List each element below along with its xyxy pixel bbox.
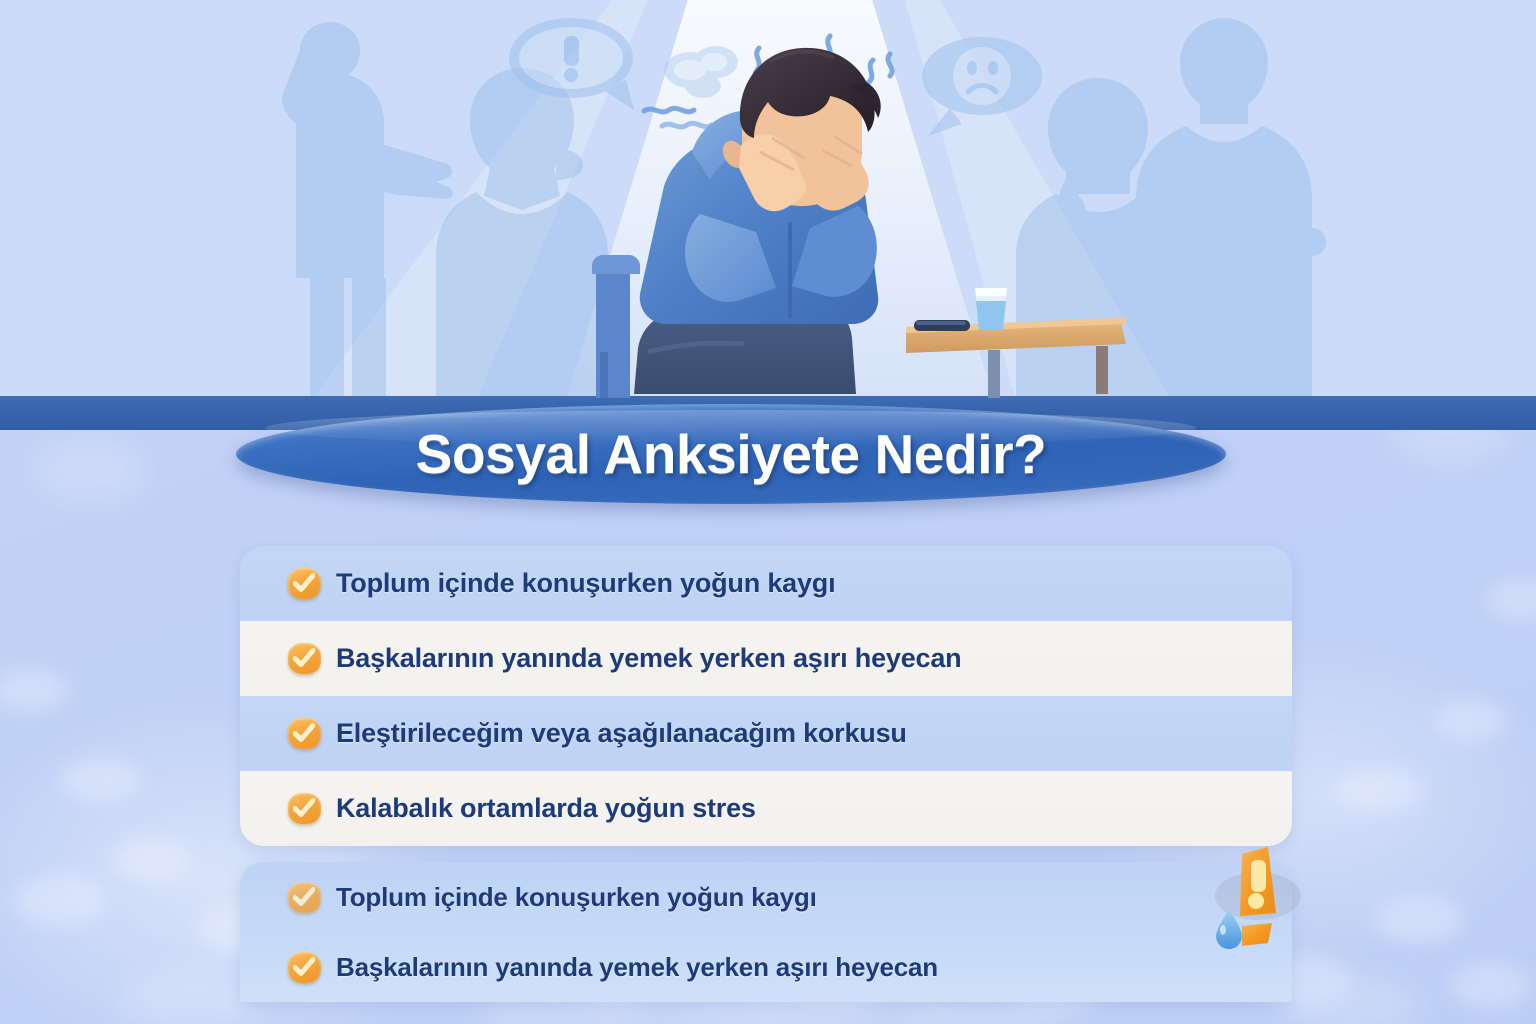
list-item: Kalabalık ortamlarda yoğun stres	[240, 771, 1292, 846]
check-icon	[288, 882, 321, 913]
page-title: Sosyal Anksiyete Nedir?	[236, 404, 1226, 504]
check-icon	[288, 643, 321, 674]
check-icon	[288, 568, 321, 599]
list-item-label: Eleştirileceğim veya aşağılanacağım kork…	[336, 718, 907, 749]
list-item: Başkalarının yanında yemek yerken aşırı …	[240, 932, 1292, 1002]
check-icon	[288, 793, 321, 824]
title-banner: Sosyal Anksiyete Nedir?	[236, 404, 1226, 504]
droplet-highlight	[1220, 925, 1226, 935]
secondary-list-panel: Toplum içinde konuşurken yoğun kaygı Baş…	[240, 862, 1292, 1002]
warning-badge	[1196, 838, 1346, 968]
exclamation-icon	[1240, 847, 1276, 946]
list-item-label: Başkalarının yanında yemek yerken aşırı …	[336, 643, 961, 674]
list-item: Toplum içinde konuşurken yoğun kaygı	[240, 546, 1292, 621]
list-item-label: Başkalarının yanında yemek yerken aşırı …	[336, 952, 938, 983]
list-item: Toplum içinde konuşurken yoğun kaygı	[240, 862, 1292, 932]
phone	[914, 320, 970, 331]
check-icon	[288, 718, 321, 749]
list-item: Eleştirileceğim veya aşağılanacağım kork…	[240, 696, 1292, 771]
list-item: Başkalarının yanında yemek yerken aşırı …	[240, 621, 1292, 696]
list-item-label: Kalabalık ortamlarda yoğun stres	[336, 793, 756, 824]
water-glass	[975, 288, 1007, 330]
list-item-label: Toplum içinde konuşurken yoğun kaygı	[336, 882, 817, 913]
poster-canvas: Sosyal Anksiyete Nedir? Toplum içinde ko…	[0, 0, 1536, 1024]
hero-illustration	[0, 0, 1536, 430]
symptom-list-panel: Toplum içinde konuşurken yoğun kaygı Baş…	[240, 546, 1292, 846]
check-icon	[288, 952, 321, 983]
list-item-label: Toplum içinde konuşurken yoğun kaygı	[336, 568, 835, 599]
